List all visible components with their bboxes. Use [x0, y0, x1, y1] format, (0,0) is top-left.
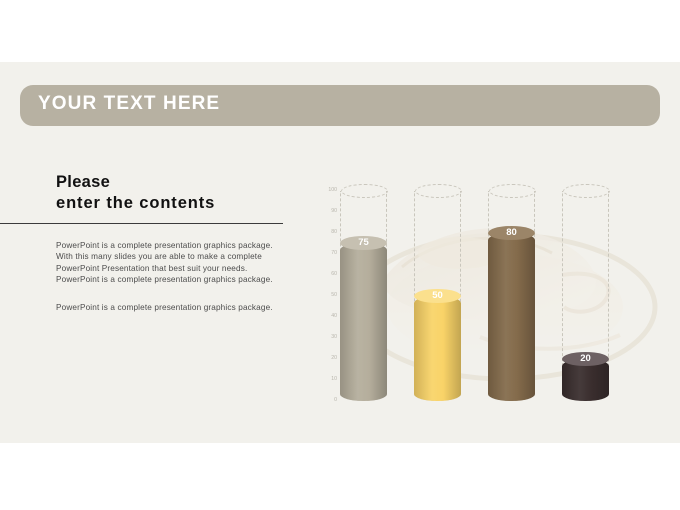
chart-bar[interactable]: 20: [562, 191, 609, 401]
chart-bar-ghost-top-ellipse: [415, 184, 462, 198]
chart-bar[interactable]: 50: [414, 191, 461, 401]
page-title: YOUR TEXT HERE: [38, 93, 220, 115]
chart-bar[interactable]: 75: [340, 191, 387, 401]
heading-line-1: Please: [56, 172, 290, 193]
chart-bar-cylinder[interactable]: 20: [562, 359, 609, 401]
left-content-panel: Please enter the contents PowerPoint is …: [0, 172, 290, 313]
chart-bar-ghost-top-ellipse: [563, 184, 610, 198]
chart-bar-value-label: 75: [340, 236, 387, 250]
chart-bar-cylinder[interactable]: 75: [340, 243, 387, 401]
slide-canvas: YOUR TEXT HERE Please enter the contents…: [0, 62, 680, 443]
chart-bar-cylinder[interactable]: 80: [488, 233, 535, 401]
chart-bar-value-label: 50: [414, 289, 461, 303]
slide-title-bar[interactable]: YOUR TEXT HERE: [20, 85, 660, 126]
section-heading: Please enter the contents: [56, 172, 290, 214]
chart-bar-value-label: 80: [488, 226, 535, 240]
chart-bar-ghost-top-ellipse: [489, 184, 536, 198]
chart-bar[interactable]: 80: [488, 191, 535, 401]
cylinder-bar-chart: 0102030405060708090100 75508020: [315, 167, 665, 427]
chart-bars-layer: 75508020: [315, 167, 665, 427]
body-paragraph-2: PowerPoint is a complete presentation gr…: [56, 302, 284, 313]
body-paragraph-1: PowerPoint is a complete presentation gr…: [56, 240, 284, 286]
heading-divider: [0, 223, 283, 224]
chart-bar-value-label: 20: [562, 352, 609, 366]
heading-line-2: enter the contents: [56, 193, 290, 214]
chart-bar-ghost-top-ellipse: [341, 184, 388, 198]
chart-bar-cylinder[interactable]: 50: [414, 296, 461, 401]
